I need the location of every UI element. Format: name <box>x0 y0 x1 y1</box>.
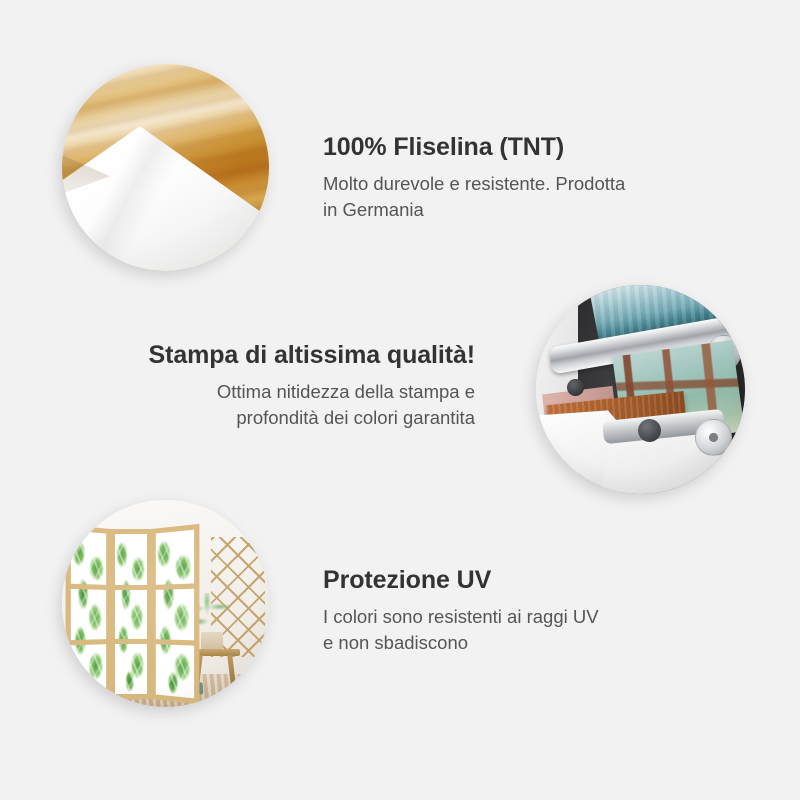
feature-description-line-2: profondità dei colori garantita <box>236 407 475 428</box>
feature-description-line-2: in Germania <box>323 199 424 220</box>
circle-mask-uv <box>62 500 269 707</box>
feature-title-stampa: Stampa di altissima qualità! <box>135 341 475 369</box>
circle-vignette-fliselina <box>62 64 269 271</box>
feature-description-line-1: Molto durevole e resistente. Prodotta <box>323 173 625 194</box>
feature-title-fliselina: 100% Fliselina (TNT) <box>323 133 663 161</box>
feature-description-line-2: e non sbadiscono <box>323 632 468 653</box>
feature-description-stampa: Ottima nitidezza della stampa e profondi… <box>135 379 475 432</box>
feature-description-fliselina: Molto durevole e resistente. Prodotta in… <box>323 171 663 224</box>
circle-mask-stampa <box>536 285 745 494</box>
feature-text-uv: Protezione UV I colori sono resistenti a… <box>323 566 663 657</box>
feature-description-line-1: I colori sono resistenti ai raggi UV <box>323 606 599 627</box>
feature-text-stampa: Stampa di altissima qualità! Ottima niti… <box>135 341 475 432</box>
printing-machine-rollers-image <box>536 285 745 494</box>
room-divider-tropical-leaves-image <box>62 500 269 707</box>
circle-vignette-uv <box>62 500 269 707</box>
feature-text-fliselina: 100% Fliselina (TNT) Molto durevole e re… <box>323 133 663 224</box>
infographic-canvas: 100% Fliselina (TNT) Molto durevole e re… <box>0 0 800 800</box>
feature-title-uv: Protezione UV <box>323 566 663 594</box>
wallpaper-roll-peeled-corner-image <box>62 64 269 271</box>
feature-description-uv: I colori sono resistenti ai raggi UV e n… <box>323 604 663 657</box>
circle-mask-fliselina <box>62 64 269 271</box>
circle-vignette-stampa <box>536 285 745 494</box>
feature-description-line-1: Ottima nitidezza della stampa e <box>217 381 475 402</box>
